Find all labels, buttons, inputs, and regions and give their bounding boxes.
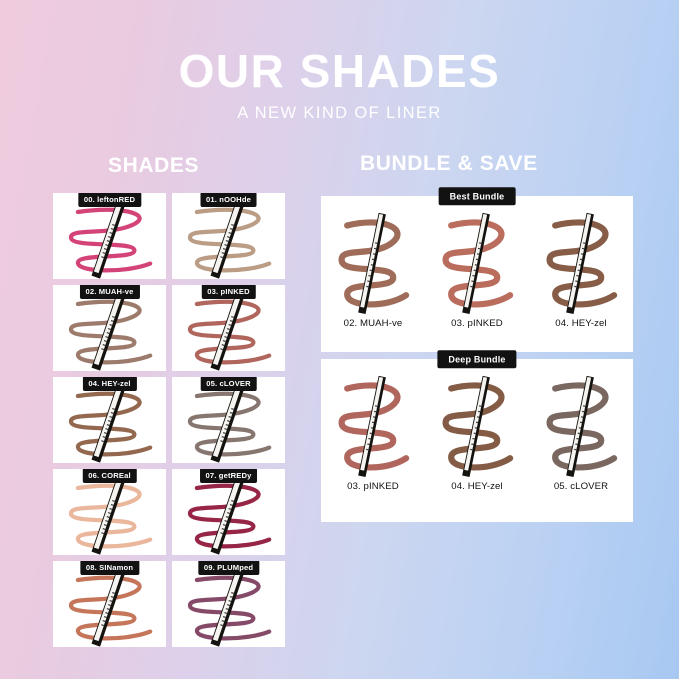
shade-card[interactable]: 05. cLOVER — [172, 377, 285, 463]
shade-label-badge: 09. PLUMped — [198, 561, 259, 575]
shade-swatch — [172, 202, 285, 279]
bundle-swatch — [327, 212, 419, 316]
bundle-items-row: 03. pINKED04. HEY-zel05. cLOVER — [321, 375, 633, 522]
bundle-section-heading: BUNDLE & SAVE — [360, 152, 538, 176]
bundle-swatch — [327, 375, 419, 479]
bundle-swatch — [431, 375, 523, 479]
page-subtitle: A NEW KIND OF LINER — [0, 104, 679, 123]
shade-label-badge: 03. pINKED — [201, 285, 255, 299]
shade-label-badge: 05. cLOVER — [200, 377, 257, 391]
shade-swatch — [172, 570, 285, 647]
shade-swatch — [172, 294, 285, 371]
bundle-panel-deep[interactable]: Deep Bundle 03. pINKED04. HEY-zel05. cLO… — [321, 359, 633, 522]
bundle-swatch — [431, 212, 523, 316]
shade-swatch — [53, 386, 166, 463]
shade-swatch — [53, 570, 166, 647]
shade-swatch — [172, 386, 285, 463]
shade-swatch — [53, 294, 166, 371]
bundle-item-label: 03. pINKED — [451, 318, 503, 329]
shade-swatch — [53, 478, 166, 555]
bundle-item-label: 05. cLOVER — [554, 481, 608, 492]
shade-card[interactable]: 06. COREal — [53, 469, 166, 555]
bundle-badge: Deep Bundle — [437, 350, 516, 368]
shade-card[interactable]: 09. PLUMped — [172, 561, 285, 647]
bundle-item-label: 03. pINKED — [347, 481, 399, 492]
shade-card[interactable]: 04. HEY-zel — [53, 377, 166, 463]
shade-label-badge: 07. getREDy — [200, 469, 258, 483]
shade-card[interactable]: 08. SINamon — [53, 561, 166, 647]
bundle-item-label: 04. HEY-zel — [451, 481, 502, 492]
shade-card[interactable]: 03. pINKED — [172, 285, 285, 371]
bundle-swatch — [535, 212, 627, 316]
bundle-swatch — [535, 375, 627, 479]
shade-label-badge: 06. COREal — [82, 469, 136, 483]
shade-label-badge: 08. SINamon — [80, 561, 139, 575]
shade-card[interactable]: 01. nOOHde — [172, 193, 285, 279]
promo-page: OUR SHADES A NEW KIND OF LINER SHADES BU… — [0, 0, 679, 679]
bundle-item[interactable]: 02. MUAH-ve — [327, 212, 419, 329]
shade-label-badge: 02. MUAH-ve — [79, 285, 139, 299]
bundle-item[interactable]: 03. pINKED — [431, 212, 523, 329]
shade-label-badge: 00. leftonRED — [78, 193, 141, 207]
shade-swatch — [53, 202, 166, 279]
page-header: OUR SHADES A NEW KIND OF LINER — [0, 48, 679, 123]
shade-label-badge: 04. HEY-zel — [82, 377, 136, 391]
page-title: OUR SHADES — [0, 48, 679, 94]
bundle-item[interactable]: 04. HEY-zel — [431, 375, 523, 492]
shade-label-badge: 01. nOOHde — [200, 193, 257, 207]
bundle-item[interactable]: 04. HEY-zel — [535, 212, 627, 329]
shade-card[interactable]: 00. leftonRED — [53, 193, 166, 279]
bundle-item[interactable]: 03. pINKED — [327, 375, 419, 492]
bundle-item-label: 02. MUAH-ve — [344, 318, 403, 329]
shade-card[interactable]: 02. MUAH-ve — [53, 285, 166, 371]
shades-section-heading: SHADES — [108, 154, 199, 178]
bundle-items-row: 02. MUAH-ve03. pINKED04. HEY-zel — [321, 212, 633, 352]
bundle-badge: Best Bundle — [439, 187, 516, 205]
bundle-item[interactable]: 05. cLOVER — [535, 375, 627, 492]
bundle-panel-best[interactable]: Best Bundle 02. MUAH-ve03. pINKED04. HEY… — [321, 196, 633, 352]
bundle-item-label: 04. HEY-zel — [555, 318, 606, 329]
shade-card[interactable]: 07. getREDy — [172, 469, 285, 555]
shade-swatch — [172, 478, 285, 555]
shades-grid: 00. leftonRED01. nOOHde02. MUAH-ve03. pI… — [53, 193, 285, 647]
